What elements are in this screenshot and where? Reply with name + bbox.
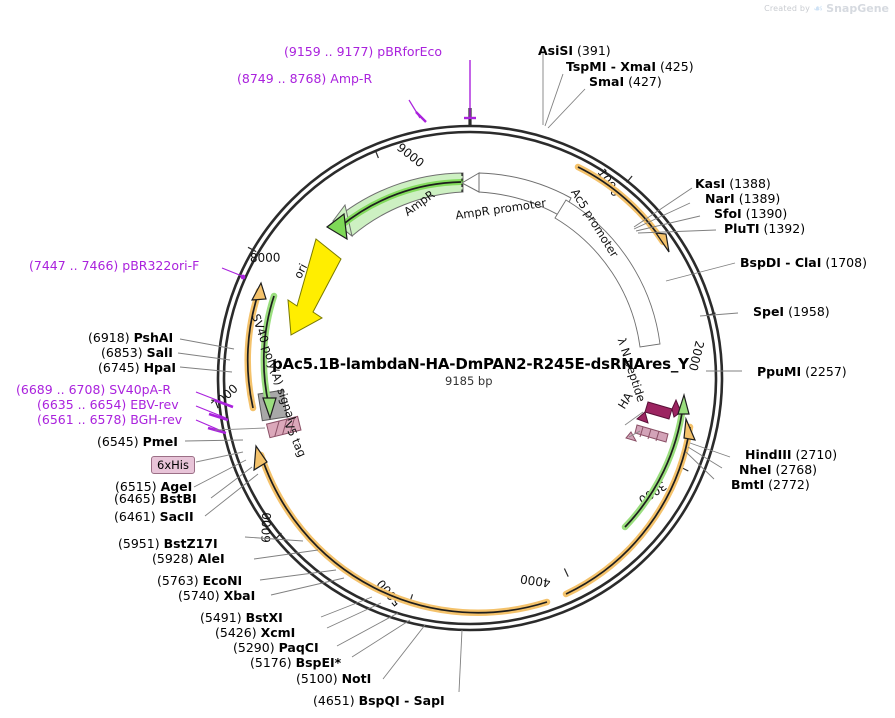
enzyme-name: NarI — [705, 191, 735, 206]
feature-lambda-n-peptide — [637, 400, 681, 423]
feature-ori — [288, 239, 341, 335]
feature-ampr — [327, 173, 463, 239]
enzyme-label-paqci: (5290) PaqCI — [233, 640, 319, 655]
enzyme-position: (5740) — [178, 588, 220, 603]
enzyme-position: (5100) — [296, 671, 338, 686]
primer-name: EBV-rev — [130, 397, 178, 412]
enzyme-label-sali: (6853) SalI — [101, 345, 173, 360]
primer-range: (6689 .. 6708) — [16, 382, 105, 397]
enzyme-label-tspmi-xmai: TspMI - XmaI (425) — [566, 59, 694, 74]
enzyme-name: KasI — [695, 176, 725, 191]
enzyme-position: (1389) — [739, 191, 781, 206]
enzyme-position: (6853) — [101, 345, 143, 360]
enzyme-name: HindIII — [745, 447, 792, 462]
primer-marks — [196, 60, 476, 433]
enzyme-position: (5426) — [215, 625, 257, 640]
enzyme-label-nari: NarI (1389) — [705, 191, 780, 206]
enzyme-name: BmtI — [731, 477, 764, 492]
enzyme-label-sfoi: SfoI (1390) — [714, 206, 787, 221]
primer-range: (8749 .. 8768) — [237, 71, 326, 86]
enzyme-label-pshai: (6918) PshAI — [88, 330, 173, 345]
enzyme-label-ppumi: PpuMI (2257) — [757, 364, 847, 379]
enzyme-name: BspQI - SapI — [359, 693, 445, 708]
enzyme-position: (6515) — [115, 479, 157, 494]
tick-label-4000: 4000 — [519, 572, 551, 590]
primer-range: (7447 .. 7466) — [29, 258, 118, 273]
enzyme-name: PpuMI — [757, 364, 801, 379]
enzyme-name: XcmI — [261, 625, 296, 640]
enzyme-name: PmeI — [143, 434, 178, 449]
enzyme-name: BspDI - ClaI — [740, 255, 821, 270]
enzyme-label-hindiii: HindIII (2710) — [745, 447, 837, 462]
enzyme-name: PluTI — [724, 221, 760, 236]
enzyme-position: (6918) — [88, 330, 130, 345]
primer-label-pbrforeco: (9159 .. 9177) pBRforEco — [284, 44, 442, 59]
feature-label-6xhis: 6xHis — [151, 456, 195, 474]
enzyme-label-bstz17i: (5951) BstZ17I — [118, 536, 218, 551]
enzyme-name: EcoNI — [203, 573, 243, 588]
enzyme-name: AsiSI — [538, 43, 573, 58]
enzyme-position: (2772) — [768, 477, 810, 492]
enzyme-position: (2710) — [796, 447, 838, 462]
enzyme-name: PshAI — [134, 330, 174, 345]
enzyme-label-xcmi: (5426) XcmI — [215, 625, 295, 640]
plasmid-length: 9185 bp — [445, 374, 493, 388]
primer-label-bgh-rev: (6561 .. 6578) BGH-rev — [37, 412, 182, 427]
primer-range: (9159 .. 9177) — [284, 44, 373, 59]
enzyme-position: (6461) — [114, 509, 156, 524]
enzyme-position: (1958) — [788, 304, 830, 319]
enzyme-name: HpaI — [144, 360, 177, 375]
primer-range: (6561 .. 6578) — [37, 412, 126, 427]
primer-label-pbr322ori-f: (7447 .. 7466) pBR322ori-F — [29, 258, 199, 273]
enzyme-position: (6545) — [97, 434, 139, 449]
tick-label-8000: 8000 — [250, 250, 281, 265]
enzyme-label-bspqi-sapi: (4651) BspQI - SapI — [313, 693, 445, 708]
enzyme-label-smai: SmaI (427) — [589, 74, 662, 89]
primer-name: SV40pA-R — [109, 382, 171, 397]
primer-name: BGH-rev — [130, 412, 182, 427]
enzyme-name: BstZ17I — [164, 536, 218, 551]
primer-name: pBRforEco — [377, 44, 442, 59]
watermark-prefix: Created by — [764, 4, 810, 13]
enzyme-label-hpai: (6745) HpaI — [98, 360, 176, 375]
enzyme-name: XbaI — [224, 588, 256, 603]
enzyme-name: BspEI* — [296, 655, 342, 670]
watermark-brand: SnapGene — [826, 2, 889, 15]
snapgene-watermark: Created by ☙ SnapGene — [764, 2, 889, 15]
enzyme-label-xbai: (5740) XbaI — [178, 588, 255, 603]
enzyme-name: NheI — [739, 462, 772, 477]
enzyme-position: (5951) — [118, 536, 160, 551]
enzyme-position: (427) — [628, 74, 662, 89]
enzyme-position: (1388) — [729, 176, 771, 191]
enzyme-label-econi: (5763) EcoNI — [157, 573, 242, 588]
enzyme-name: SfoI — [714, 206, 742, 221]
enzyme-label-pmei: (6545) PmeI — [97, 434, 178, 449]
enzyme-name: BstXI — [246, 610, 283, 625]
enzyme-label-alei: (5928) AleI — [152, 551, 225, 566]
enzyme-label-sacii: (6461) SacII — [114, 509, 194, 524]
enzyme-name: SpeI — [753, 304, 784, 319]
enzyme-label-pluti: PluTI (1392) — [724, 221, 805, 236]
enzyme-name: PaqCI — [279, 640, 319, 655]
enzyme-position: (5176) — [250, 655, 292, 670]
enzyme-position: (5491) — [200, 610, 242, 625]
primer-range: (6635 .. 6654) — [37, 397, 126, 412]
enzyme-label-bspdi-clai: BspDI - ClaI (1708) — [740, 255, 867, 270]
enzyme-label-nhei: NheI (2768) — [739, 462, 817, 477]
feature-orange-bottom-left — [254, 446, 547, 613]
feature-ha-tag — [626, 425, 668, 442]
enzyme-label-bstxi: (5491) BstXI — [200, 610, 283, 625]
enzyme-position: (4651) — [313, 693, 355, 708]
primer-label-ebv-rev: (6635 .. 6654) EBV-rev — [37, 397, 179, 412]
enzyme-name: NotI — [342, 671, 372, 686]
tick-label-9000: 9000 — [394, 140, 427, 170]
enzyme-name: SalI — [147, 345, 173, 360]
enzyme-position: (2257) — [805, 364, 847, 379]
enzyme-name: SmaI — [589, 74, 624, 89]
enzyme-label-asisi: AsiSI (391) — [538, 43, 611, 58]
enzyme-label-spei: SpeI (1958) — [753, 304, 830, 319]
enzyme-position: (5928) — [152, 551, 194, 566]
plasmid-map-canvas: 1000 2000 3000 4000 5000 6000 7000 8000 … — [0, 0, 895, 718]
primer-label-amp-r: (8749 .. 8768) Amp-R — [237, 71, 372, 86]
enzyme-name: AleI — [198, 551, 225, 566]
enzyme-position: (6745) — [98, 360, 140, 375]
enzyme-name: AgeI — [161, 479, 193, 494]
enzyme-position: (425) — [660, 59, 694, 74]
enzyme-position: (391) — [577, 43, 611, 58]
enzyme-position: (1392) — [764, 221, 806, 236]
enzyme-label-noti: (5100) NotI — [296, 671, 371, 686]
enzyme-label-bmti: BmtI (2772) — [731, 477, 810, 492]
enzyme-position: (5763) — [157, 573, 199, 588]
enzyme-position: (5290) — [233, 640, 275, 655]
enzyme-label-agei: (6515) AgeI — [115, 479, 192, 494]
primer-name: pBR322ori-F — [122, 258, 199, 273]
enzyme-name: TspMI - XmaI — [566, 59, 656, 74]
primer-name: Amp-R — [330, 71, 372, 86]
enzyme-position: (2768) — [775, 462, 817, 477]
enzyme-position: (1390) — [746, 206, 788, 221]
snapgene-logo-icon: ☙ — [813, 2, 823, 15]
enzyme-name: SacII — [160, 509, 194, 524]
enzyme-label-kasi: KasI (1388) — [695, 176, 771, 191]
primer-label-sv40pa-r: (6689 .. 6708) SV40pA-R — [16, 382, 171, 397]
enzyme-position: (1708) — [825, 255, 867, 270]
enzyme-label-bspei: (5176) BspEI* — [250, 655, 341, 670]
